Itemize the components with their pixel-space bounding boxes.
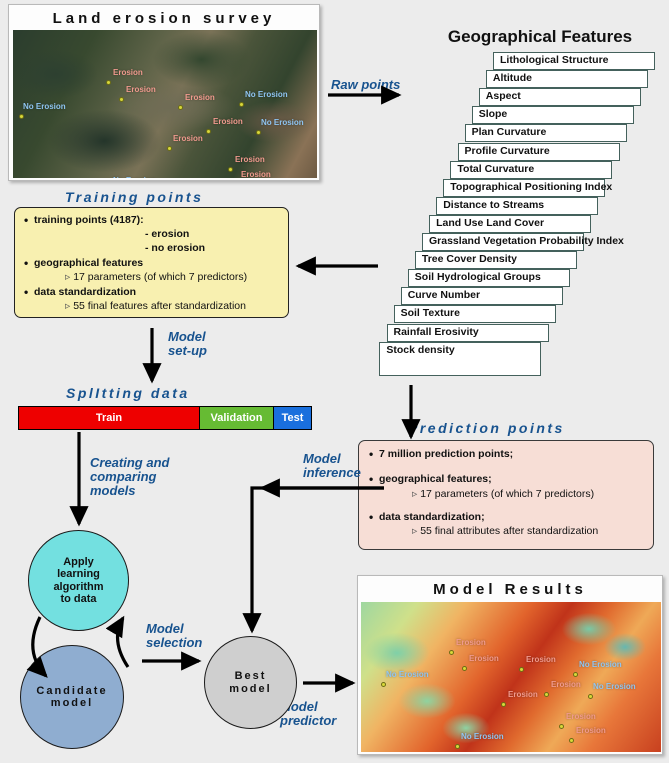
results-panel-title: Model Results	[358, 576, 662, 602]
splitting-data-bar: Train Validation Test	[18, 406, 312, 430]
map-label-erosion: Erosion	[185, 93, 215, 102]
feature-item: Stock density	[379, 342, 541, 376]
feature-item: Total Curvature	[450, 161, 612, 179]
model-setup-label: Model set-up	[168, 330, 207, 358]
feature-item-label: Soil Texture	[401, 307, 460, 319]
apply-line2: learning	[53, 568, 103, 581]
map-label-no-erosion: No Erosion	[245, 90, 288, 99]
feature-item-label: Tree Cover Density	[422, 253, 517, 265]
splitting-data-title: SplItting data	[66, 386, 190, 400]
map-sample-point	[119, 97, 124, 102]
map-sample-point	[19, 114, 24, 119]
feature-item: Grassland Vegetation Probability Index	[422, 233, 584, 251]
prediction-final-attributes: 55 final attributes after standardizatio…	[412, 525, 644, 537]
training-points-count: training points (4187):	[23, 214, 280, 226]
map-sample-point	[455, 744, 460, 749]
map-label-erosion: Erosion	[526, 655, 556, 664]
training-points-title: Training points	[65, 190, 203, 204]
feature-item: Distance to Streams	[436, 197, 598, 215]
map-sample-point	[449, 650, 454, 655]
results-map-image: ErosionErosionErosionNo ErosionNo Erosio…	[361, 602, 661, 752]
land-erosion-survey-panel: Land erosion survey ErosionErosionErosio…	[8, 4, 320, 181]
map-label-erosion: Erosion	[576, 726, 606, 735]
feature-item: Plan Curvature	[465, 124, 627, 142]
split-segment-validation: Validation	[199, 407, 273, 429]
feature-item: Profile Curvature	[458, 143, 620, 161]
map-sample-point	[106, 80, 111, 85]
feature-item-label: Plan Curvature	[472, 126, 547, 138]
apply-line4: to data	[53, 593, 103, 606]
feature-item-label: Topographical Positioning Index	[450, 181, 612, 193]
feature-item-label: Rainfall Erosivity	[394, 326, 479, 338]
creating-line2: comparing	[90, 470, 169, 484]
map-sample-point	[501, 702, 506, 707]
feature-item: Soil Hydrological Groups	[408, 269, 570, 287]
apply-learning-algorithm-circle: Apply learning algorithm to data	[28, 530, 129, 631]
prediction-data-standardization: data standardization;	[368, 511, 644, 523]
candidate-line1: Candidate	[36, 685, 107, 698]
map-sample-point	[239, 102, 244, 107]
apply-line3: algorithm	[53, 581, 103, 594]
feature-item-label: Lithological Structure	[500, 54, 609, 66]
apply-line1: Apply	[53, 556, 103, 569]
map-sample-point	[544, 692, 549, 697]
feature-item-label: Slope	[479, 108, 508, 120]
map-sample-point	[381, 682, 386, 687]
map-label-erosion: Erosion	[173, 134, 203, 143]
map-sample-point	[588, 694, 593, 699]
map-label-erosion: Erosion	[213, 117, 243, 126]
feature-item-label: Grassland Vegetation Probability Index	[429, 235, 624, 247]
raw-points-label: Raw points	[331, 78, 400, 92]
best-model-circle: Best model	[204, 636, 297, 729]
map-label-no-erosion: No Erosion	[461, 732, 504, 741]
map-label-erosion: Erosion	[241, 170, 271, 178]
feature-item: Lithological Structure	[493, 52, 655, 70]
map-sample-point	[519, 667, 524, 672]
creating-line3: models	[90, 484, 169, 498]
map-label-no-erosion: No Erosion	[23, 102, 66, 111]
map-label-erosion: Erosion	[113, 68, 143, 77]
feature-item: Altitude	[486, 70, 648, 88]
map-sample-point	[569, 738, 574, 743]
split-segment-test: Test	[273, 407, 311, 429]
survey-panel-title: Land erosion survey	[9, 5, 319, 31]
feature-item: Curve Number	[401, 287, 563, 305]
training-parameters: 17 parameters (of which 7 predictors)	[65, 271, 280, 283]
map-label-no-erosion: No Erosion	[579, 660, 622, 669]
map-sample-point	[206, 129, 211, 134]
geographical-features-title: Geographical Features	[420, 27, 660, 47]
feature-item: Rainfall Erosivity	[387, 324, 549, 342]
model-inference-line1: Model	[303, 452, 361, 466]
prediction-parameters: 17 parameters (of which 7 predictors)	[412, 488, 644, 500]
feature-item: Topographical Positioning Index	[443, 179, 605, 197]
map-label-erosion: Erosion	[508, 690, 538, 699]
map-sample-point	[228, 167, 233, 172]
model-setup-line2: set-up	[168, 344, 207, 358]
map-sample-point	[256, 130, 261, 135]
model-inference-label: Model inference	[303, 452, 361, 480]
training-points-box: training points (4187): - erosion - no e…	[14, 207, 289, 318]
model-selection-line1: Model	[146, 622, 202, 636]
map-label-no-erosion: No Erosion	[113, 176, 156, 178]
map-sample-point	[462, 666, 467, 671]
best-line1: Best	[229, 670, 271, 683]
best-line2: model	[229, 683, 271, 696]
feature-item: Aspect	[479, 88, 641, 106]
map-label-erosion: Erosion	[566, 712, 596, 721]
feature-item-label: Land Use Land Cover	[436, 217, 544, 229]
training-data-standardization: data standardization	[23, 286, 280, 298]
split-segment-train: Train	[19, 407, 199, 429]
feature-item-label: Stock density	[386, 344, 454, 356]
map-label-no-erosion: No Erosion	[593, 682, 636, 691]
feature-item-label: Altitude	[493, 72, 532, 84]
prediction-points-box: 7 million prediction points; geographica…	[358, 440, 654, 550]
model-setup-line1: Model	[168, 330, 207, 344]
map-label-no-erosion: No Erosion	[386, 670, 429, 679]
map-label-no-erosion: No Erosion	[261, 118, 304, 127]
model-results-panel: Model Results ErosionErosionErosionNo Er…	[357, 575, 663, 755]
candidate-line2: model	[36, 697, 107, 710]
model-selection-line2: selection	[146, 636, 202, 650]
map-label-erosion: Erosion	[126, 85, 156, 94]
creating-comparing-models-label: Creating and comparing models	[90, 456, 169, 498]
creating-line1: Creating and	[90, 456, 169, 470]
feature-item-label: Aspect	[486, 90, 521, 102]
feature-item-label: Total Curvature	[457, 163, 534, 175]
feature-item: Land Use Land Cover	[429, 215, 591, 233]
training-points-erosion: - erosion	[145, 228, 280, 240]
model-selection-label: Model selection	[146, 622, 202, 650]
map-label-erosion: Erosion	[235, 155, 265, 164]
candidate-model-circle: Candidate model	[20, 645, 124, 749]
training-geographical-features: geographical features	[23, 257, 280, 269]
map-label-erosion: Erosion	[469, 654, 499, 663]
map-label-erosion: Erosion	[456, 638, 486, 647]
feature-item: Slope	[472, 106, 634, 124]
model-predictor-line2: predictor	[280, 714, 336, 728]
feature-item-label: Soil Hydrological Groups	[415, 271, 541, 283]
feature-item-label: Distance to Streams	[443, 199, 544, 211]
map-label-erosion: Erosion	[551, 680, 581, 689]
map-sample-point	[559, 724, 564, 729]
prediction-points-count: 7 million prediction points;	[368, 448, 644, 460]
training-points-no-erosion: - no erosion	[145, 242, 280, 254]
prediction-geographical-features: geographical features;	[368, 473, 644, 485]
map-sample-point	[167, 146, 172, 151]
feature-item: Tree Cover Density	[415, 251, 577, 269]
model-inference-line2: inference	[303, 466, 361, 480]
map-sample-point	[178, 105, 183, 110]
feature-item-label: Curve Number	[408, 289, 480, 301]
feature-item-label: Profile Curvature	[465, 145, 550, 157]
survey-map-image: ErosionErosionErosionNo ErosionNo Erosio…	[13, 30, 317, 178]
map-sample-point	[573, 672, 578, 677]
feature-item: Soil Texture	[394, 305, 556, 323]
prediction-points-title: Prediction points	[408, 421, 565, 435]
training-final-features: 55 final features after standardization	[65, 300, 280, 312]
